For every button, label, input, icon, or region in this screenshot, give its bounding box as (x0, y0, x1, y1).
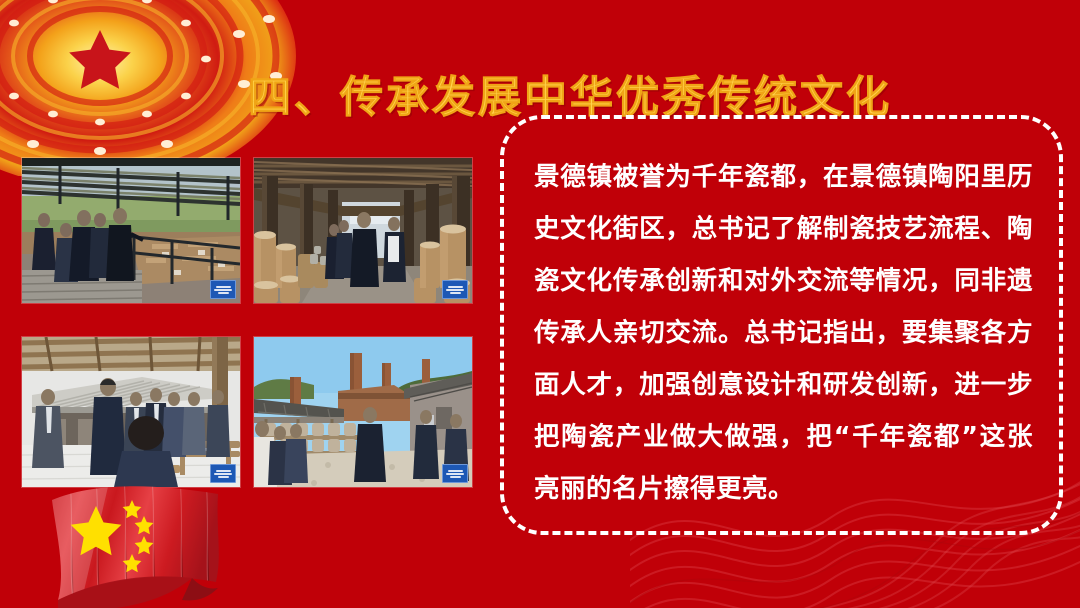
quote-text: 景德镇被誉为千年瓷都，在景德镇陶阳里历史文化街区，总书记了解制瓷技艺流程、陶瓷文… (534, 151, 1033, 515)
flag-stars (71, 500, 154, 572)
quote-panel: 景德镇被誉为千年瓷都，在景德镇陶阳里历史文化街区，总书记了解制瓷技艺流程、陶瓷文… (500, 115, 1063, 535)
photo-courtyard-gathering[interactable] (22, 337, 240, 487)
slide-canvas: 四、传承发展中华优秀传统文化 (0, 0, 1080, 608)
photo-kiln-yard-chimneys[interactable] (254, 337, 472, 487)
watermark-badge (442, 464, 468, 483)
photo-kiln-workshop-interior[interactable] (254, 158, 472, 303)
watermark-badge (210, 464, 236, 483)
china-national-flag (40, 478, 230, 608)
photo-grid (22, 158, 474, 488)
watermark-badge (442, 280, 468, 299)
watermark-badge (210, 280, 236, 299)
photo-archaeological-site-walkway[interactable] (22, 158, 240, 303)
